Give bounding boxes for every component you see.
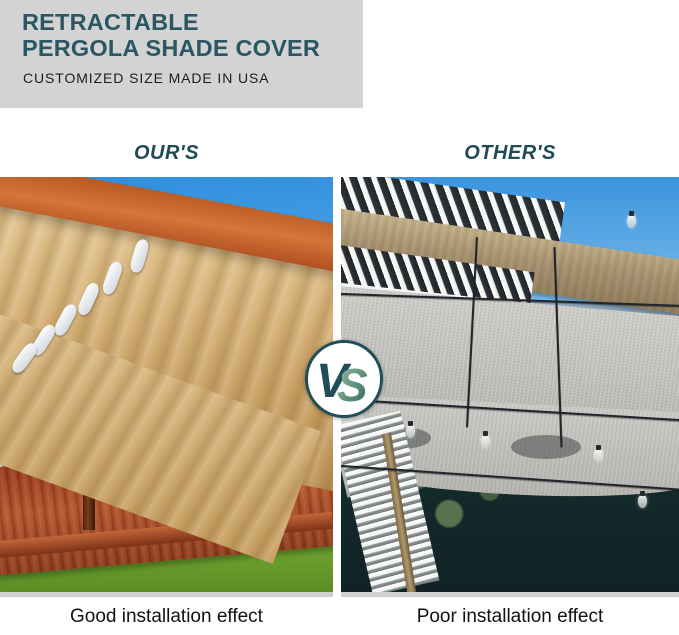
header-banner: RETRACTABLE PERGOLA SHADE COVER CUSTOMIZ…: [0, 0, 363, 108]
vs-badge: V S: [305, 340, 383, 418]
caption-poor: Poor installation effect: [341, 606, 679, 628]
svg-text:S: S: [337, 359, 368, 405]
light-bulb: [594, 449, 603, 462]
light-bulb: [627, 215, 636, 228]
light-bulb: [638, 495, 647, 508]
column-label-ours: OUR'S: [0, 142, 333, 165]
photo-poor-installation: [341, 177, 679, 592]
divider-right: [341, 592, 679, 597]
product-comparison-page: RETRACTABLE PERGOLA SHADE COVER CUSTOMIZ…: [0, 0, 679, 635]
photo-good-installation: [0, 177, 333, 592]
fabric-sag: [511, 435, 581, 459]
caption-good: Good installation effect: [0, 606, 333, 628]
vs-glyph: V S: [315, 353, 373, 405]
column-label-others: OTHER'S: [341, 142, 679, 165]
light-bulb: [481, 435, 490, 448]
page-title: RETRACTABLE PERGOLA SHADE COVER: [22, 9, 362, 61]
light-bulb: [406, 425, 415, 438]
page-subtitle: CUSTOMIZED SIZE MADE IN USA: [23, 70, 270, 86]
divider-left: [0, 592, 333, 597]
